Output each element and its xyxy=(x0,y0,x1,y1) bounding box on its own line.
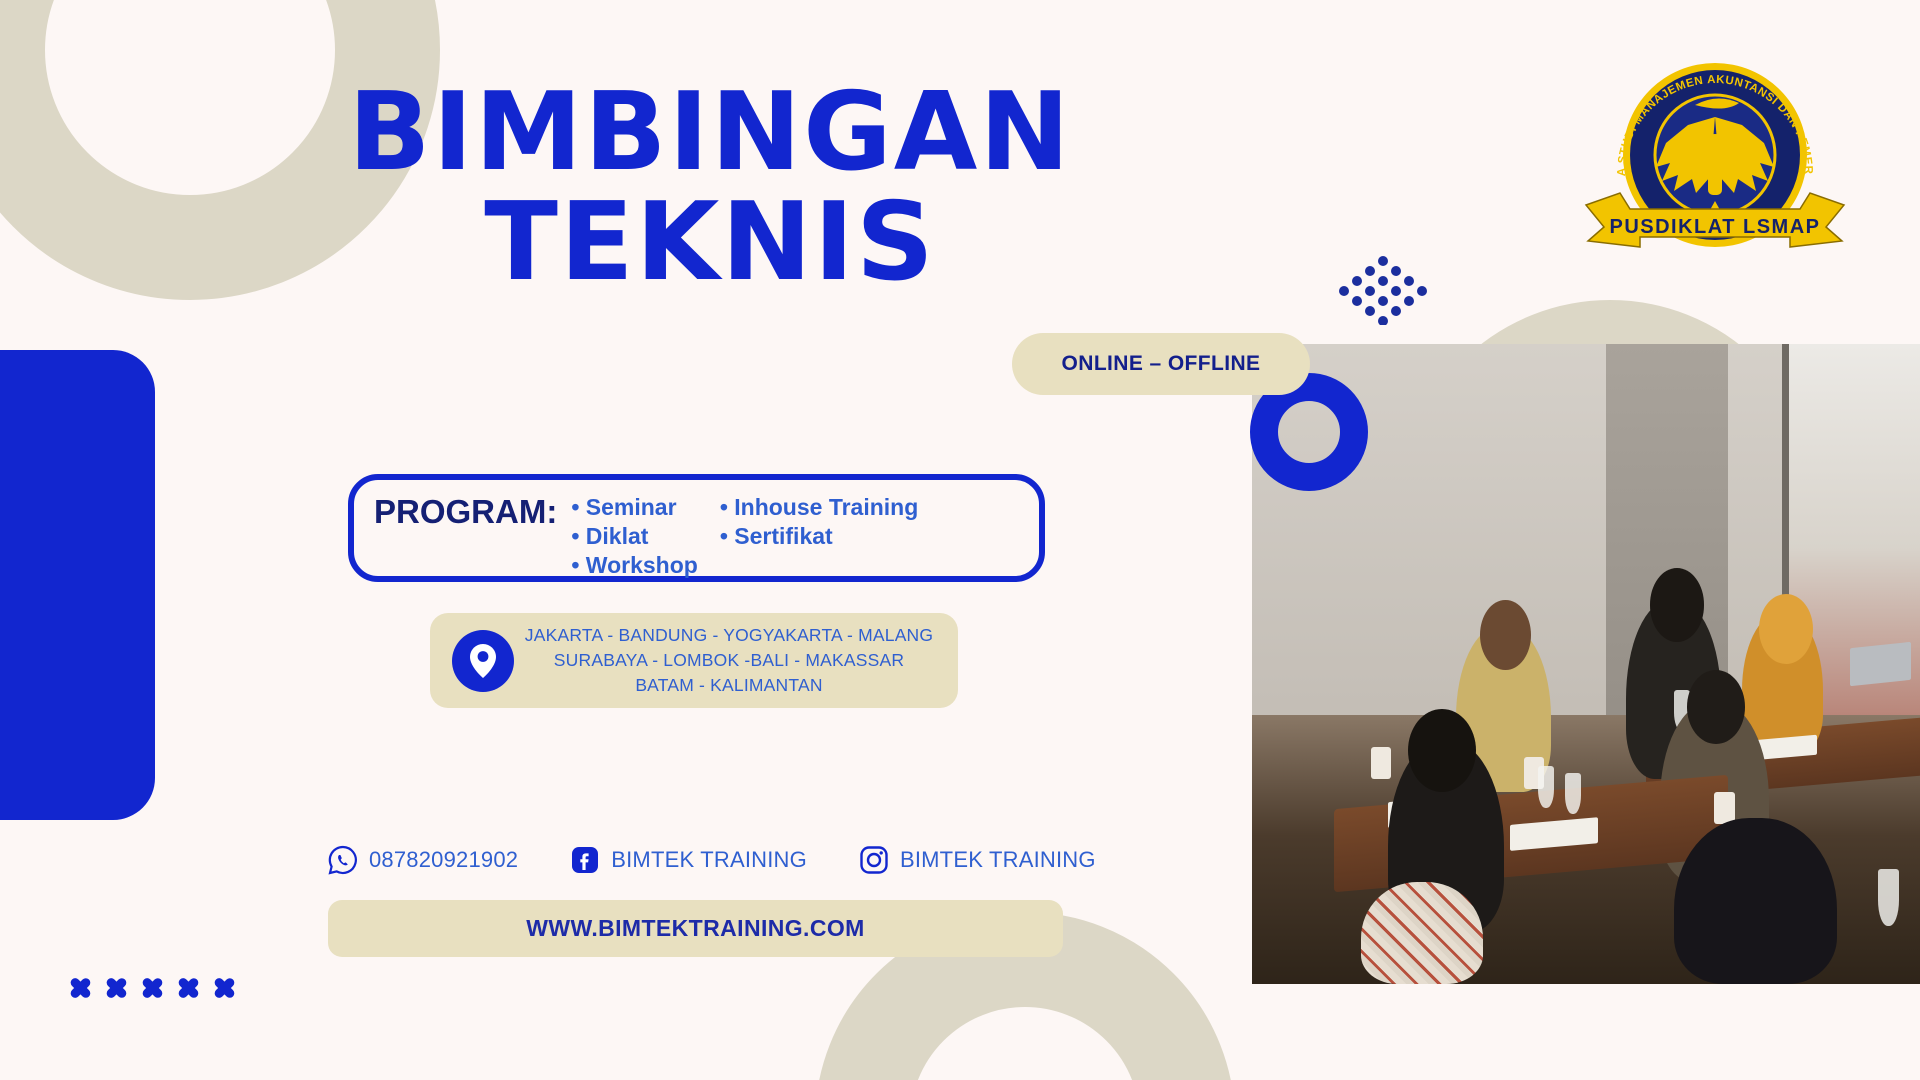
social-label: 087820921902 xyxy=(369,847,518,873)
social-links-row: 087820921902 BIMTEK TRAINING BIMTEK TRAI… xyxy=(328,845,1096,875)
program-item: Inhouse Training xyxy=(720,493,918,522)
program-box: PROGRAM: Seminar Diklat Workshop Inhouse… xyxy=(348,474,1045,582)
program-item: Workshop xyxy=(571,551,697,580)
map-pin-badge xyxy=(452,630,514,692)
location-line: SURABAYA - LOMBOK -BALI - MAKASSAR xyxy=(514,648,944,673)
chevron-right-icon xyxy=(140,965,170,1011)
program-list-column-1: Seminar Diklat Workshop xyxy=(571,493,697,580)
title-line-1: BIMBINGAN xyxy=(348,70,1071,195)
program-item: Diklat xyxy=(571,522,697,551)
chevron-right-icon xyxy=(176,965,206,1011)
title-line-2: TEKNIS xyxy=(340,188,1080,298)
program-item: Sertifikat xyxy=(720,522,918,551)
chevron-right-icon xyxy=(104,965,134,1011)
location-lines: JAKARTA - BANDUNG - YOGYAKARTA - MALANG … xyxy=(514,623,958,698)
decorative-blue-slab xyxy=(0,350,155,820)
program-label: PROGRAM: xyxy=(374,493,557,531)
facebook-icon xyxy=(570,845,600,875)
page-title: BIMBINGAN TEKNIS xyxy=(340,78,1080,298)
social-item-facebook[interactable]: BIMTEK TRAINING xyxy=(570,845,807,875)
diamond-dot-grid-icon xyxy=(1328,255,1438,325)
seminar-photo xyxy=(1252,344,1920,984)
pusdiklat-lsmap-logo: LEMBAGA STUDI MANAJEMEN AKUNTANSI DAN PE… xyxy=(1570,55,1860,255)
chevron-right-icon xyxy=(212,965,242,1011)
logo-ribbon-text: PUSDIKLAT LSMAP xyxy=(1609,216,1820,238)
badge-label: ONLINE – OFFLINE xyxy=(1062,352,1261,376)
location-box: JAKARTA - BANDUNG - YOGYAKARTA - MALANG … xyxy=(430,613,958,708)
program-list-column-2: Inhouse Training Sertifikat xyxy=(720,493,918,580)
program-item: Seminar xyxy=(571,493,697,522)
location-line: BATAM - KALIMANTAN xyxy=(514,673,944,698)
social-item-instagram[interactable]: BIMTEK TRAINING xyxy=(859,845,1096,875)
social-item-whatsapp[interactable]: 087820921902 xyxy=(328,845,518,875)
social-label: BIMTEK TRAINING xyxy=(900,847,1096,873)
map-pin-icon xyxy=(468,642,498,680)
whatsapp-icon xyxy=(328,845,358,875)
poster-canvas: LEMBAGA STUDI MANAJEMEN AKUNTANSI DAN PE… xyxy=(0,0,1920,1080)
online-offline-badge: ONLINE – OFFLINE xyxy=(1012,333,1310,395)
chevron-arrows-decor xyxy=(68,965,242,1011)
location-line: JAKARTA - BANDUNG - YOGYAKARTA - MALANG xyxy=(514,623,944,648)
instagram-icon xyxy=(859,845,889,875)
website-bar[interactable]: WWW.BIMTEKTRAINING.COM xyxy=(328,900,1063,957)
social-label: BIMTEK TRAINING xyxy=(611,847,807,873)
website-label: WWW.BIMTEKTRAINING.COM xyxy=(526,915,864,942)
chevron-right-icon xyxy=(68,965,98,1011)
